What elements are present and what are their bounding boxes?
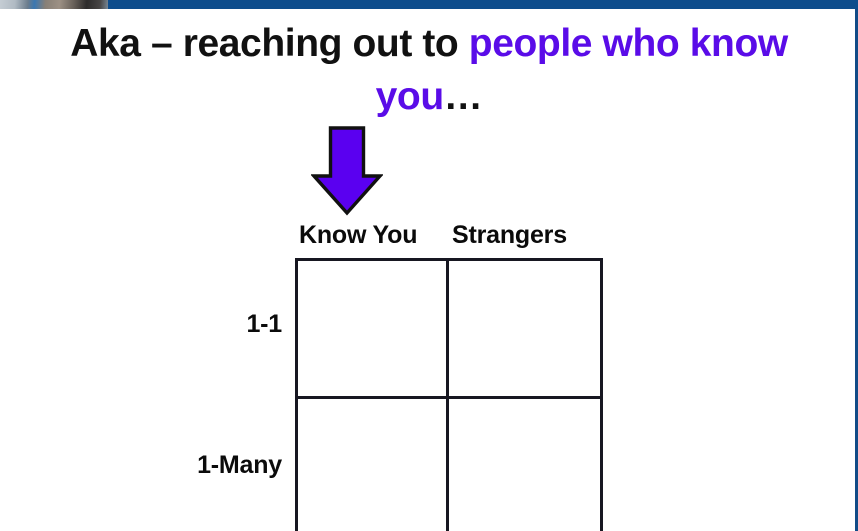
matrix-cell-1-1-strangers[interactable] bbox=[449, 261, 600, 399]
matrix-cell-1-many-strangers[interactable] bbox=[449, 399, 600, 531]
matrix-cell-1-1-know-you[interactable] bbox=[298, 261, 449, 399]
matrix-column-header-know-you: Know You bbox=[299, 221, 417, 250]
headline-segment-black-2: … bbox=[444, 75, 483, 118]
matrix-cell-1-many-know-you[interactable] bbox=[298, 399, 449, 531]
matrix-row-header-1-many: 1-Many bbox=[96, 451, 282, 480]
app-top-bar bbox=[0, 0, 858, 9]
video-thumbnail-strip[interactable] bbox=[0, 0, 108, 9]
matrix-grid bbox=[295, 258, 603, 531]
matrix-column-header-strangers: Strangers bbox=[452, 221, 567, 250]
down-arrow-icon bbox=[311, 126, 383, 216]
screenshot-root: Aka – reaching out to people who know yo… bbox=[0, 0, 858, 531]
slide-canvas: Aka – reaching out to people who know yo… bbox=[0, 9, 855, 531]
headline-segment-black-1: Aka – reaching out to bbox=[70, 22, 469, 65]
matrix-row-header-1-1: 1-1 bbox=[96, 310, 282, 339]
slide-headline: Aka – reaching out to people who know yo… bbox=[24, 17, 834, 123]
